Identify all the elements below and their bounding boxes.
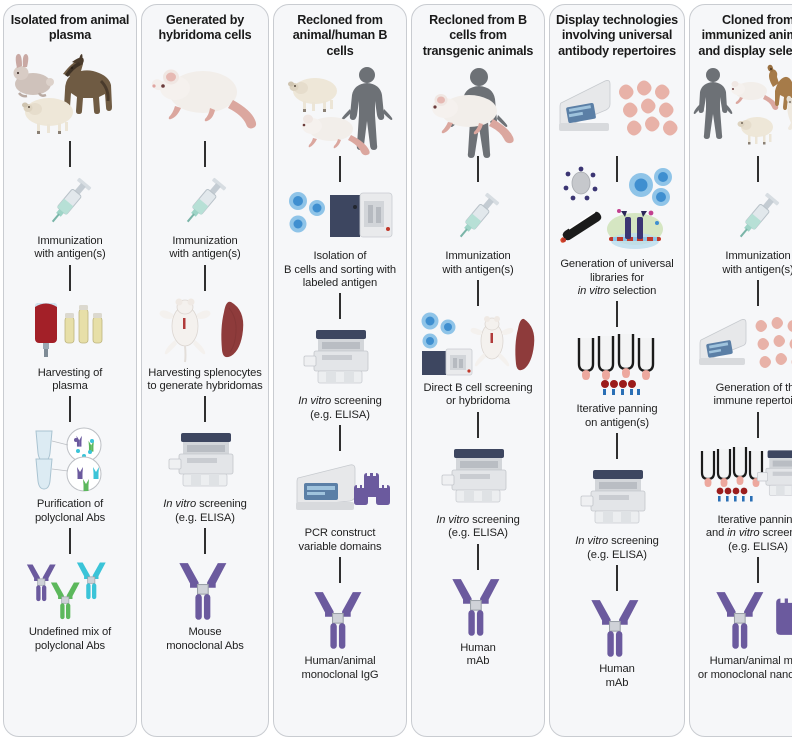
workflow-column-hybridoma: Generated by hybridoma cells [141, 4, 269, 737]
flow-connector [477, 544, 479, 570]
step-in-vitro-screening: In vitro screening (e.g. ELISA) [147, 425, 263, 525]
mouse-icon [731, 81, 778, 110]
step-immunization: Immunization with antigen(s) [147, 170, 263, 262]
column-title: Cloned from immunized animals and displa… [695, 13, 792, 59]
column-title: Recloned from B cells from transgenic an… [417, 13, 539, 59]
step-in-vitro-screening: In vitro screening (e.g. ELISA) [279, 322, 401, 422]
flow-connector [204, 265, 206, 291]
step-generation-immune-repertoire: Generation of the immune repertoire [695, 309, 792, 409]
flow-connector [616, 565, 618, 591]
flow-connector [339, 156, 341, 182]
elisa-reader-icon [555, 462, 679, 532]
step-label: Harvesting of plasma [38, 367, 103, 394]
thermomixer-tissue-icon [695, 309, 792, 379]
result-label: Human mAb [460, 642, 496, 669]
step-generation-universal-libraries: Generation of universal libraries for in… [555, 185, 679, 298]
dissected-mouse-icon [471, 316, 514, 366]
blood-bag-tubes-icon [9, 294, 131, 364]
flow-connector [69, 528, 71, 554]
flow-connector [204, 396, 206, 422]
syringe-icon [9, 170, 131, 232]
thermomixer-tissue-icon [555, 69, 679, 145]
hero-illustration-transgenic-mouse-human [417, 61, 539, 153]
rabbit-icon [14, 54, 55, 96]
step-iterative-panning: Iterative panning on antigen(s) [555, 330, 679, 430]
monoclonal-antibody-icon [716, 592, 763, 649]
elisa-reader-icon [147, 425, 263, 495]
step-label: Iterative panning on antigen(s) [576, 403, 657, 430]
result-label: Undefined mix of polyclonal Abs [29, 626, 111, 653]
phage-library-icon [555, 185, 679, 255]
step-in-vitro-screening: In vitro screening (e.g. ELISA) [555, 462, 679, 562]
bcells-sorter-spleen-icon [417, 309, 539, 379]
step-label: In vitro screening (e.g. ELISA) [163, 498, 246, 525]
panning-and-elisa-icon [695, 441, 792, 511]
panning-tubes-icon [555, 330, 679, 400]
flow-connector [339, 293, 341, 319]
result-label: Human/animal mAb or monoclonal nanobody [698, 655, 792, 682]
step-direct-b-cell-screening: Direct B cell screening or hybridoma [417, 309, 539, 409]
hero-illustration-multiple-species [695, 61, 792, 153]
horse-icon [63, 54, 112, 114]
phage-icon [564, 167, 598, 201]
human-mouse-camel-sheep-llama-icon [695, 61, 792, 153]
flow-connector [477, 280, 479, 306]
nanobody-icon [776, 599, 792, 635]
step-harvesting-splenocytes: Harvesting splenocytes to generate hybri… [147, 294, 263, 394]
step-label: Immunization with antigen(s) [722, 250, 792, 277]
flow-connector [477, 156, 479, 182]
step-harvesting-plasma: Harvesting of plasma [9, 294, 131, 394]
result-mab-nanobody: Human/animal mAb or monoclonal nanobody [695, 586, 792, 682]
step-label: PCR construct variable domains [299, 527, 382, 554]
column-title: Generated by hybridoma cells [147, 13, 263, 44]
tissue-samples-icon [619, 81, 678, 136]
purification-tubes-icon [9, 425, 131, 495]
hero-illustration-thermomixer-tissues [555, 61, 679, 153]
elisa-reader-icon [417, 441, 539, 511]
step-immunization: Immunization with antigen(s) [417, 185, 539, 277]
flow-connector [204, 528, 206, 554]
step-label: Direct B cell screening or hybridoma [424, 382, 533, 409]
step-label: Isolation of B cells and sorting with la… [284, 250, 396, 290]
step-label: In vitro screening (e.g. ELISA) [298, 395, 381, 422]
human-silhouette-icon [694, 68, 733, 139]
thermomixer-icon [699, 319, 746, 365]
workflow-column-display-universal: Display technologies involving universal… [549, 4, 685, 737]
antibody-and-nanobody-icon [695, 586, 792, 652]
step-in-vitro-screening: In vitro screening (e.g. ELISA) [417, 441, 539, 541]
flow-connector [757, 412, 759, 438]
pcr-thermocycler-icon [279, 454, 401, 524]
bcells-icon [629, 168, 672, 206]
step-label: Generation of the immune repertoire [713, 382, 792, 409]
step-label: Harvesting splenocytes to generate hybri… [147, 367, 262, 394]
result-polyclonal: Undefined mix of polyclonal Abs [9, 557, 131, 653]
sheep-icon [22, 98, 73, 134]
flow-connector [69, 396, 71, 422]
flow-connector [339, 425, 341, 451]
step-label: In vitro screening (e.g. ELISA) [575, 535, 658, 562]
step-label: Iterative panning and in vitro screening… [706, 514, 792, 554]
tissue-samples-icon [756, 317, 792, 368]
step-immunization: Immunization with antigen(s) [695, 185, 792, 277]
flow-connector [757, 280, 759, 306]
workflow-column-immunized-display: Cloned from immunized animals and displa… [689, 4, 792, 737]
sheep-icon [288, 78, 337, 112]
workflow-column-polyclonal-plasma: Isolated from animal plasma [3, 4, 137, 737]
step-pcr-construct: PCR construct variable domains [279, 454, 401, 554]
cell-sorter-icon [279, 185, 401, 247]
workflow-column-transgenic-b-cells: Recloned from B cells from transgenic an… [411, 4, 545, 737]
result-human-mab: Human mAb [417, 573, 539, 669]
monoclonal-antibody-icon [279, 586, 401, 652]
column-title: Isolated from animal plasma [9, 13, 131, 44]
result-label: Human mAb [599, 663, 635, 690]
step-isolation-sorting: Isolation of B cells and sorting with la… [279, 185, 401, 290]
monoclonal-antibody-icon [417, 573, 539, 639]
flow-connector [204, 141, 206, 167]
library-construct-icon [607, 209, 663, 249]
rabbit-horse-sheep-icon [9, 46, 131, 138]
result-monoclonal: Mouse monoclonal Abs [147, 557, 263, 653]
antibody-workflow-diagram: Isolated from animal plasma [0, 0, 792, 741]
result-human-mab: Human mAb [555, 594, 679, 690]
syringe-icon [695, 185, 792, 247]
column-title: Recloned from animal/human B cells [279, 13, 401, 59]
variable-domain-icon [354, 473, 390, 505]
mouse-spleen-icon [147, 294, 263, 364]
flow-connector [616, 301, 618, 327]
sheep-icon [738, 117, 774, 145]
step-label: Immunization with antigen(s) [442, 250, 513, 277]
flow-connector [69, 141, 71, 167]
step-label: Purification of polyclonal Abs [35, 498, 105, 525]
phage-vector-icon [560, 212, 601, 243]
step-label: In vitro screening (e.g. ELISA) [436, 514, 519, 541]
mouse-icon [147, 48, 263, 136]
hero-illustration-sheep-human-mouse [279, 61, 401, 153]
step-label: Immunization with antigen(s) [34, 235, 105, 262]
column-title: Display technologies involving universal… [555, 13, 679, 59]
flow-connector [477, 412, 479, 438]
step-label: Immunization with antigen(s) [169, 235, 240, 262]
human-silhouette-icon [342, 67, 393, 150]
syringe-icon [147, 170, 263, 232]
step-immunization: Immunization with antigen(s) [9, 170, 131, 262]
flow-connector [339, 557, 341, 583]
step-panning-and-screening: Iterative panning and in vitro screening… [695, 441, 792, 554]
workflow-column-recloned-b-cells: Recloned from animal/human B cells [273, 4, 407, 737]
mouse-human-icon [417, 61, 539, 153]
thermomixer-icon [559, 81, 610, 132]
flow-connector [757, 156, 759, 182]
elisa-reader-icon [279, 322, 401, 392]
flow-connector [616, 433, 618, 459]
hero-illustration-mouse [147, 46, 263, 138]
step-purification: Purification of polyclonal Abs [9, 425, 131, 525]
monoclonal-antibody-icon [147, 557, 263, 623]
dissected-mouse-icon [160, 298, 211, 362]
polyclonal-antibodies-icon [9, 557, 131, 623]
syringe-icon [417, 185, 539, 247]
flow-connector [757, 557, 759, 583]
hero-illustration-animals [9, 46, 131, 138]
step-label: Generation of universal libraries for in… [560, 258, 673, 298]
result-label: Human/animal monoclonal IgG [302, 655, 379, 682]
result-label: Mouse monoclonal Abs [166, 626, 244, 653]
sheep-human-mouse-icon [279, 61, 401, 153]
result-monoclonal-igg: Human/animal monoclonal IgG [279, 586, 401, 682]
monoclonal-antibody-icon [555, 594, 679, 660]
flow-connector [69, 265, 71, 291]
